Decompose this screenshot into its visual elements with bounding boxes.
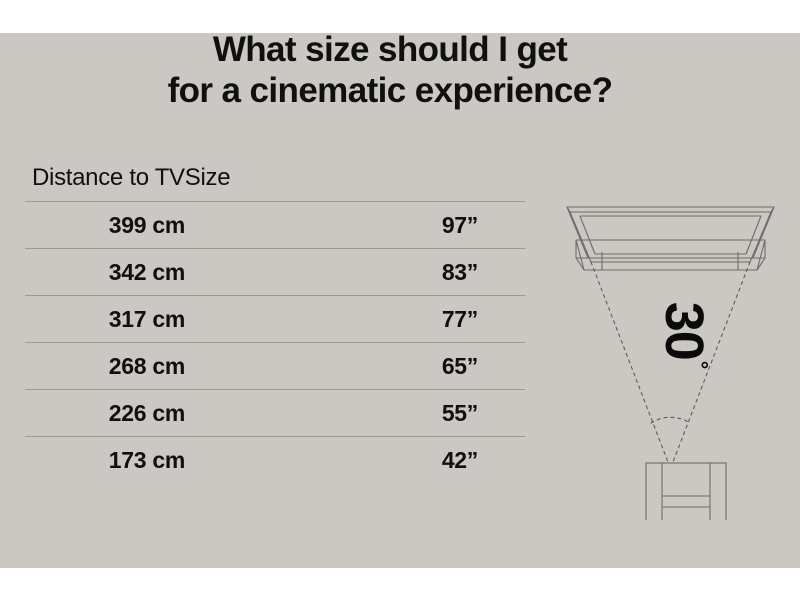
cell-size: 42” [185,447,525,474]
cell-size: 97” [185,212,525,239]
cell-distance: 399 cm [25,212,185,239]
table-row: 226 cm 55” [25,390,525,437]
infographic-canvas: What size should I get for a cinematic e… [0,0,800,600]
page-title-line-1: What size should I get [0,29,780,70]
diagram-svg [540,180,800,520]
page-title-line-2: for a cinematic experience? [0,70,780,111]
cell-distance: 317 cm [25,306,185,333]
cell-distance: 226 cm [25,400,185,427]
sofa-shape [646,463,726,520]
cell-size: 83” [185,259,525,286]
viewing-angle-cone [591,262,750,462]
table-row: 268 cm 65” [25,343,525,390]
cell-distance: 268 cm [25,353,185,380]
page-title: What size should I get for a cinematic e… [0,29,780,111]
cell-distance: 342 cm [25,259,185,286]
column-header-size: Size [185,164,525,192]
table-row: 342 cm 83” [25,249,525,296]
cell-distance: 173 cm [25,447,185,474]
viewing-angle-diagram [540,180,800,520]
table-header-row: Distance to TV Size [25,155,525,202]
cell-size: 77” [185,306,525,333]
cell-size: 55” [185,400,525,427]
table-row: 317 cm 77” [25,296,525,343]
cell-size: 65” [185,353,525,380]
table-row: 173 cm 42” [25,437,525,483]
tv-perspective-shape [567,207,774,262]
table-row: 399 cm 97” [25,202,525,249]
column-header-distance: Distance to TV [25,164,185,192]
tv-stand-shape [576,240,765,270]
size-distance-table: Distance to TV Size 399 cm 97” 342 cm 83… [25,155,525,483]
